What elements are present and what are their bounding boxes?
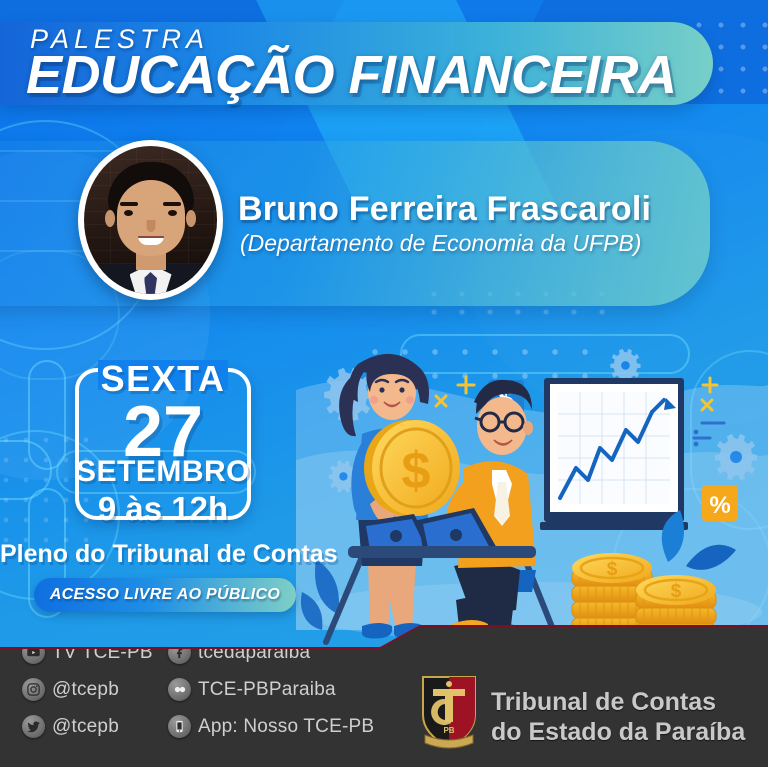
institution-line2: do Estado da Paraíba — [491, 718, 745, 748]
event-month: SETEMBRO — [0, 455, 326, 489]
coin-dollar-symbol: $ — [671, 581, 682, 602]
growth-chart-board — [540, 378, 688, 530]
page-title: EDUCAÇÃO FINANCEIRA — [26, 44, 677, 106]
avatar-brow — [120, 202, 138, 206]
avatar-eye — [168, 210, 177, 216]
speaker-name: Bruno Ferreira Frascaroli — [238, 190, 651, 229]
social-label: @tcepb — [52, 716, 119, 738]
tce-pb-shield-logo: PB — [417, 671, 481, 753]
coin-dollar-symbol: $ — [402, 442, 431, 500]
event-venue: Pleno do Tribunal de Contas — [0, 540, 326, 569]
social-label: TCE-PBParaiba — [198, 679, 336, 701]
social-item-instagram[interactable]: @tcepb — [22, 673, 153, 706]
twitter-icon — [22, 715, 45, 738]
poster-root: PALESTRA EDUCAÇÃO FINANCEIRA Bruno Ferre… — [0, 0, 768, 767]
social-label: @tcepb — [52, 679, 119, 701]
social-item-app[interactable]: App: Nosso TCE-PB — [168, 710, 374, 743]
social-item-twitter[interactable]: @tcepb — [22, 710, 153, 743]
coin-dollar-symbol: $ — [607, 559, 618, 580]
finance-illustration: $ % — [296, 330, 768, 660]
big-coin: $ — [364, 420, 460, 516]
institution-line1: Tribunal de Contas — [491, 688, 745, 718]
avatar-nose — [146, 220, 155, 232]
flickr-icon — [168, 678, 191, 701]
avatar — [78, 140, 223, 300]
avatar-ear — [186, 210, 196, 227]
social-item-flickr[interactable]: TCE-PBParaiba — [168, 673, 374, 706]
percent-badge-label: % — [709, 492, 730, 519]
access-badge-label: ACESSO LIVRE AO PÚBLICO — [34, 578, 296, 612]
social-column-right: tcedaparaiba TCE-PBParaiba App: Nosso TC… — [168, 636, 374, 747]
svg-text:PB: PB — [443, 726, 454, 735]
speaker-department: (Departamento de Economia da UFPB) — [240, 230, 641, 257]
instagram-icon — [22, 678, 45, 701]
social-label: App: Nosso TCE-PB — [198, 716, 374, 738]
social-column-left: TV TCE-PB @tcepb @tcepb — [22, 636, 153, 747]
event-time: 9 às 12h — [0, 490, 326, 528]
access-badge: ACESSO LIVRE AO PÚBLICO — [34, 578, 296, 612]
avatar-eye — [124, 210, 133, 216]
app-icon — [168, 715, 191, 738]
avatar-ear — [105, 210, 115, 227]
institution-name: Tribunal de Contas do Estado da Paraíba — [491, 688, 745, 747]
avatar-brow — [163, 202, 181, 206]
desk-top — [348, 546, 536, 558]
avatar-photo — [84, 146, 217, 294]
